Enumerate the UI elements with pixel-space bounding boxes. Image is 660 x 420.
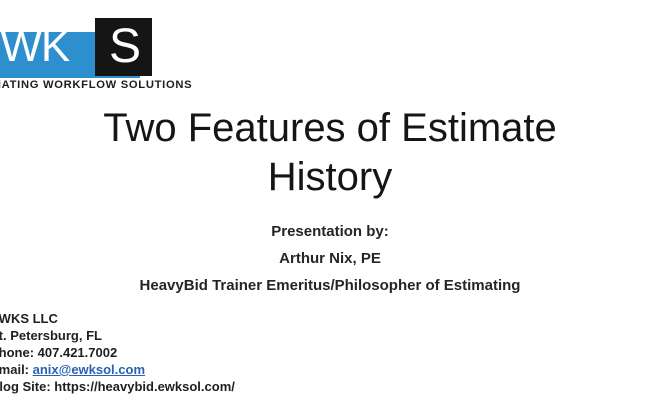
slide-title: Two Features of Estimate History: [40, 104, 620, 202]
blog-site: Blog Site: https://heavybid.ewksol.com/: [0, 379, 410, 396]
company-name: EWKS LLC: [0, 311, 410, 328]
company-email-row: Email: anix@ewksol.com: [0, 362, 410, 379]
presentation-slide: EWK S ESTIMATING WORKFLOW SOLUTIONS Two …: [0, 0, 660, 420]
slide-title-line-1: Two Features of Estimate: [40, 104, 620, 153]
slide-title-line-2: History: [40, 153, 620, 202]
email-link[interactable]: anix@ewksol.com: [33, 362, 145, 377]
logo-square-text: S: [100, 22, 150, 72]
email-label: Email:: [0, 362, 33, 377]
logo-tagline: ESTIMATING WORKFLOW SOLUTIONS: [0, 79, 192, 91]
slide-subtitle: Presentation by: Arthur Nix, PE HeavyBid…: [40, 218, 620, 299]
logo-bar-text: EWK: [0, 24, 69, 70]
presentation-by-label: Presentation by:: [40, 218, 620, 245]
contact-info-block: EWKS LLC St. Petersburg, FL Phone: 407.4…: [0, 311, 410, 396]
presenter-name: Arthur Nix, PE: [40, 245, 620, 272]
ewks-logo: EWK S ESTIMATING WORKFLOW SOLUTIONS: [0, 16, 184, 98]
company-phone: Phone: 407.421.7002: [0, 345, 410, 362]
company-location: St. Petersburg, FL: [0, 328, 410, 345]
presenter-title: HeavyBid Trainer Emeritus/Philosopher of…: [40, 272, 620, 299]
